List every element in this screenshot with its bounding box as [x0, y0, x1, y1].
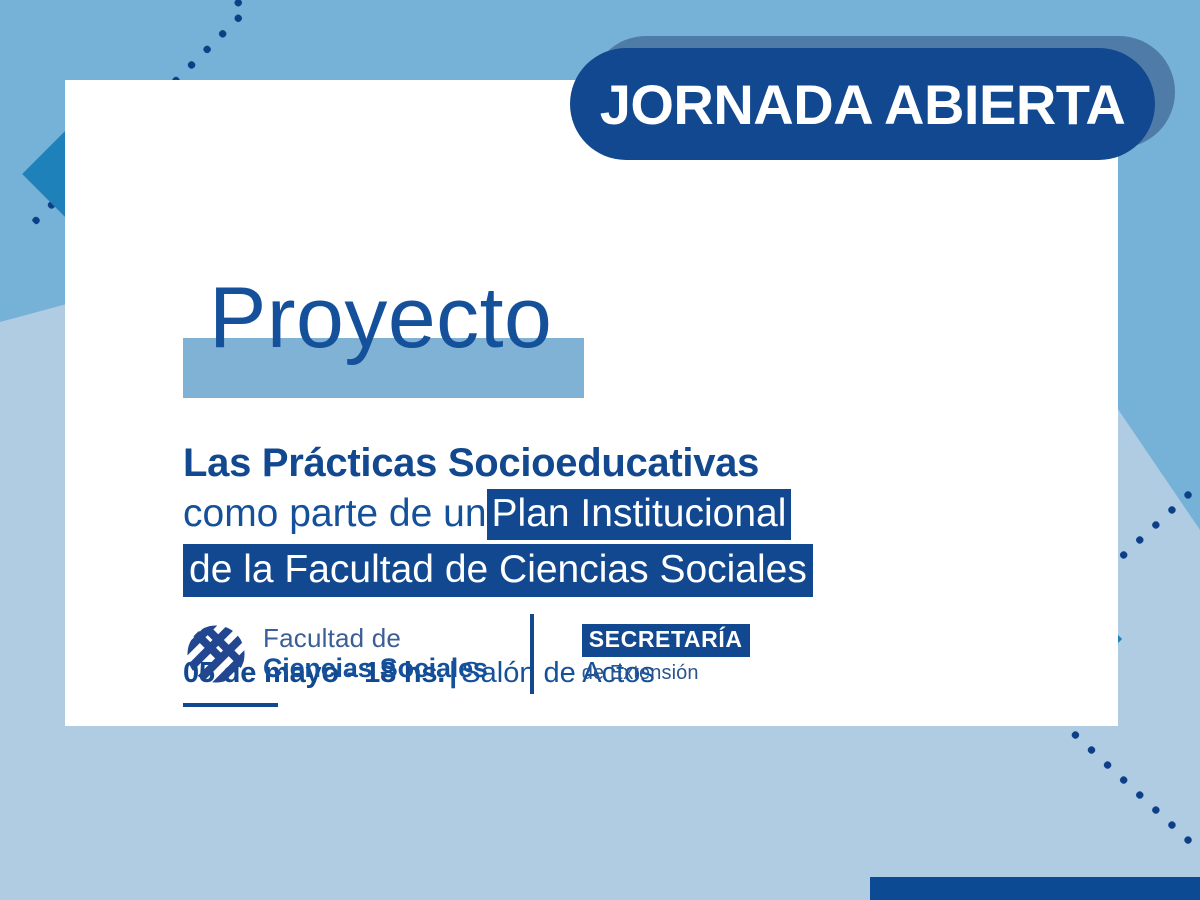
event-datetime-underline — [183, 703, 278, 707]
badge-label: JORNADA ABIERTA — [600, 72, 1126, 137]
faculty-name: Facultad de Ciencias Sociales — [263, 624, 488, 683]
white-card: Proyecto Las Prácticas Socioeducativas c… — [65, 80, 1118, 726]
badge-pill: JORNADA ABIERTA — [570, 48, 1155, 160]
footer: Facultad de Ciencias Sociales SECRETARÍA… — [185, 614, 750, 694]
secretaria-block: SECRETARÍA de Extensión — [582, 624, 750, 685]
title-line-1: Las Prácticas Socioeducativas — [183, 438, 1103, 489]
kicker-block: Proyecto — [183, 275, 1103, 410]
kicker-text: Proyecto — [209, 275, 552, 361]
jornada-badge: JORNADA ABIERTA — [570, 36, 1175, 160]
title-block: Las Prácticas Socioeducativas como parte… — [183, 438, 1103, 595]
faculty-line-1: Facultad de — [263, 624, 488, 653]
title-line-3-text: de la Facultad de Ciencias Sociales — [183, 544, 813, 597]
navy-accent-bar — [870, 877, 1200, 900]
title-line-2-plain: como parte de un — [183, 492, 487, 535]
title-line-2-highlight: Plan Institucional — [487, 489, 792, 540]
secretaria-title: SECRETARÍA — [582, 624, 750, 657]
secretaria-subtitle: de Extensión — [582, 662, 750, 685]
faculty-line-2: Ciencias Sociales — [263, 653, 488, 683]
poster-canvas: Proyecto Las Prácticas Socioeducativas c… — [0, 0, 1200, 900]
faculty-circle-stripes-logo-icon — [185, 623, 247, 685]
title-line-1-text: Las Prácticas Socioeducativas — [183, 441, 759, 485]
title-line-3: de la Facultad de Ciencias Sociales — [183, 545, 1103, 595]
title-line-2: como parte de unPlan Institucional — [183, 489, 1103, 539]
footer-divider — [530, 614, 534, 694]
